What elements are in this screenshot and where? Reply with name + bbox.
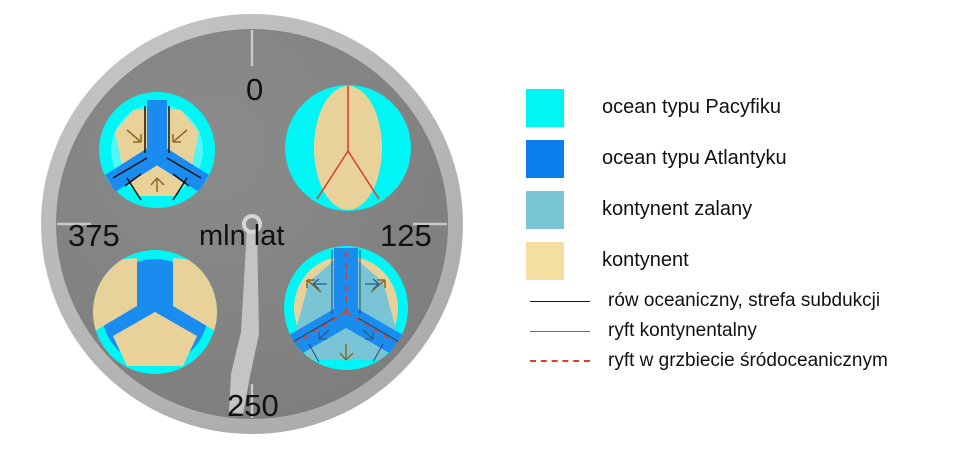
swatch-kontynent [526, 242, 564, 280]
stage-globe-125 [284, 246, 408, 370]
legend-item-kontynent: kontynent [526, 235, 946, 286]
legend-label-kontynent: kontynent [602, 249, 689, 272]
swatch-ocean-atlantyku [526, 140, 564, 178]
swatch-ocean-pacyfiku [526, 89, 564, 127]
legend-item-ocean-atlantyku: ocean typu Atlantyku [526, 133, 946, 184]
gauge-tick-label-250: 250 [227, 390, 279, 421]
stage-globe-375 [99, 92, 215, 208]
line-key-trench-icon [530, 301, 590, 302]
legend-label-ryft-grzbiet: ryft w grzbiecie śródoceanicznym [608, 350, 888, 372]
wilson-cycle-gauge: 0 125 250 375 mln lat [41, 14, 463, 434]
swatch-kontynent-zalany [526, 191, 564, 229]
line-key-ridge-icon [530, 360, 590, 362]
legend-item-row-oceaniczny: rów oceaniczny, strefa subdukcji [526, 286, 946, 316]
gauge-tick-label-375: 375 [68, 220, 120, 251]
gauge-unit-label: mln lat [199, 222, 284, 251]
line-key-rift-icon [530, 331, 590, 332]
stage-globe-0 [285, 85, 411, 211]
legend-label-ocean-pacyfiku: ocean typu Pacyfiku [602, 96, 781, 119]
legend-item-ryft-grzbiet: ryft w grzbiecie śródoceanicznym [526, 346, 946, 376]
legend-swatches: ocean typu Pacyfiku ocean typu Atlantyku… [526, 82, 946, 286]
legend-label-ocean-atlantyku: ocean typu Atlantyku [602, 147, 787, 170]
legend-label-kontynent-zalany: kontynent zalany [602, 198, 752, 221]
gauge-tick-label-0: 0 [246, 74, 263, 105]
legend-label-row-oceaniczny: rów oceaniczny, strefa subdukcji [608, 290, 880, 312]
gauge-tick-label-125: 125 [380, 220, 432, 251]
legend-item-kontynent-zalany: kontynent zalany [526, 184, 946, 235]
figure-root: 0 125 250 375 mln lat ocean typu Pacyfik… [0, 0, 960, 458]
legend-item-ocean-pacyfiku: ocean typu Pacyfiku [526, 82, 946, 133]
legend-line-styles: rów oceaniczny, strefa subdukcji ryft ko… [526, 286, 946, 376]
legend-item-ryft-kontynentalny: ryft kontynentalny [526, 316, 946, 346]
legend-label-ryft-kontynentalny: ryft kontynentalny [608, 320, 757, 342]
